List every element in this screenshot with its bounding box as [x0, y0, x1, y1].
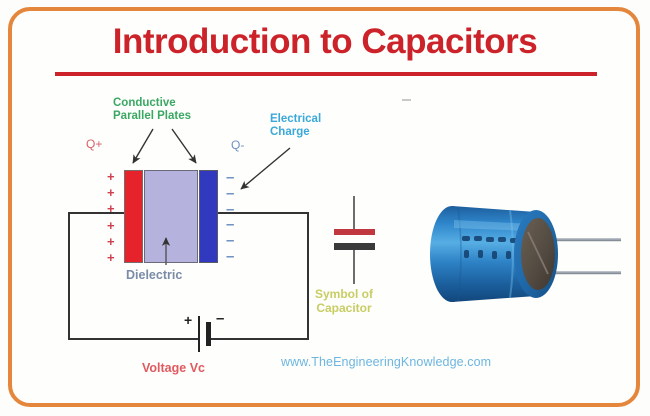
minus-sign: – — [226, 186, 234, 201]
label-q-positive: Q+ — [86, 138, 102, 152]
positive-charge-column: + + + + + + — [107, 170, 115, 264]
label-voltage-vc: Voltage Vc — [142, 361, 205, 375]
page-title: Introduction to Capacitors — [0, 22, 650, 62]
plus-sign: + — [107, 170, 115, 183]
label-q-negative: Q- — [231, 139, 244, 153]
minus-sign: – — [226, 217, 234, 232]
label-conductive-parallel-plates: Conductive Parallel Plates — [113, 97, 191, 123]
battery-plus-sign: + — [184, 312, 192, 328]
electrolytic-capacitor-photo — [424, 198, 624, 308]
wire-bottom-left — [68, 338, 200, 340]
title-underline — [55, 72, 597, 76]
symbol-bottom-plate — [334, 243, 375, 250]
negative-charge-column: – – – – – – — [226, 170, 234, 264]
label-dielectric: Dielectric — [126, 268, 182, 282]
minus-sign: – — [226, 249, 234, 264]
minus-sign: – — [226, 233, 234, 248]
plus-sign: + — [107, 202, 115, 215]
wire-right-vertical — [307, 212, 309, 340]
battery-positive-plate — [198, 316, 200, 352]
plus-sign: + — [107, 219, 115, 232]
minus-sign: – — [226, 202, 234, 217]
plus-sign: + — [107, 186, 115, 199]
minus-sign: – — [226, 170, 234, 185]
plus-sign: + — [107, 251, 115, 264]
symbol-bottom-lead — [353, 250, 355, 284]
capacitor-plates-assembly — [124, 170, 218, 263]
label-electrical-charge: Electrical Charge — [270, 113, 321, 139]
label-symbol-of-capacitor: Symbol of Capacitor — [315, 288, 373, 316]
dielectric-block — [144, 170, 198, 263]
symbol-top-lead — [353, 196, 355, 230]
wire-top-left — [68, 212, 126, 214]
negative-plate — [199, 170, 218, 263]
positive-plate — [124, 170, 143, 263]
stray-dash-artifact — [402, 99, 411, 101]
wire-left-vertical — [68, 212, 70, 340]
battery-minus-sign: – — [216, 310, 224, 327]
battery-negative-plate — [206, 322, 211, 346]
symbol-top-plate — [334, 229, 375, 235]
wire-bottom-right — [209, 338, 309, 340]
screenshot-canvas: Introduction to Capacitors Conductive Pa… — [0, 0, 650, 416]
plus-sign: + — [107, 235, 115, 248]
website-watermark: www.TheEngineeringKnowledge.com — [281, 355, 491, 369]
